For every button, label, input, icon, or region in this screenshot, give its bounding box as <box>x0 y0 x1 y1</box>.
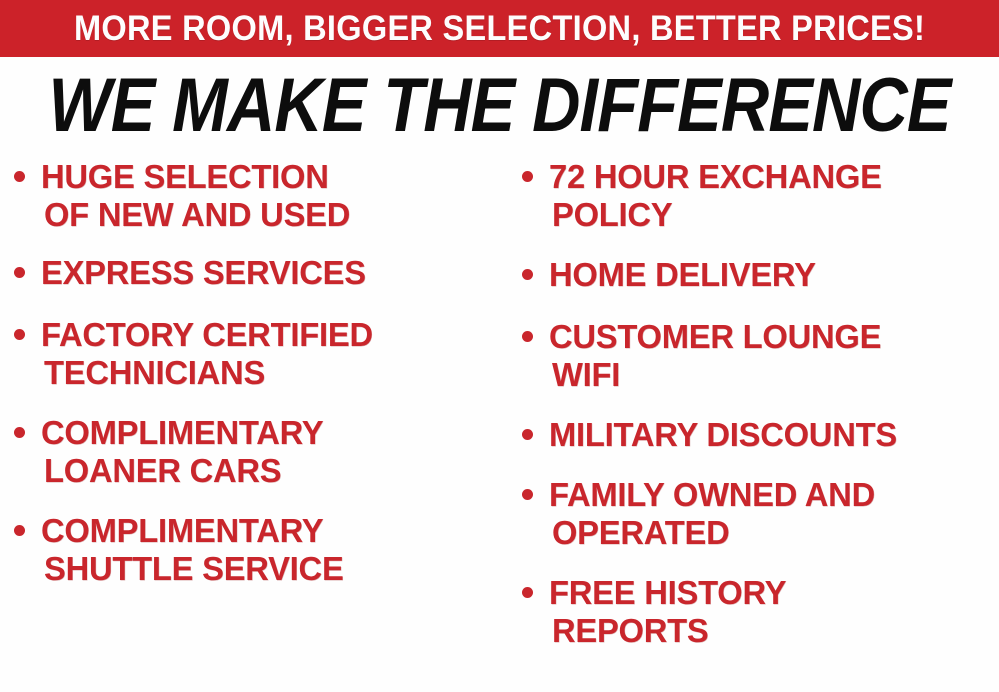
bullet-dot-icon <box>522 171 533 182</box>
top-banner-text: MORE ROOM, BIGGER SELECTION, BETTER PRIC… <box>74 11 925 46</box>
bullet-dot-icon <box>14 329 25 340</box>
list-item: HUGE SELECTIONOF NEW AND USED <box>14 158 501 234</box>
features-column-right: 72 HOUR EXCHANGEPOLICYHOME DELIVERYCUSTO… <box>505 158 999 666</box>
list-item: EXPRESS SERVICES <box>14 254 501 292</box>
list-item-label: HOME DELIVERY <box>549 256 816 294</box>
bullet-dot-icon <box>522 269 533 280</box>
list-item-label: FAMILY OWNED ANDOPERATED <box>549 476 875 552</box>
list-item: MILITARY DISCOUNTS <box>522 416 999 454</box>
features-columns: HUGE SELECTIONOF NEW AND USEDEXPRESS SER… <box>0 158 999 692</box>
list-item-line: COMPLIMENTARY <box>41 414 323 452</box>
features-column-left: HUGE SELECTIONOF NEW AND USEDEXPRESS SER… <box>0 158 505 604</box>
list-item-label: EXPRESS SERVICES <box>41 254 366 292</box>
list-item-label: FREE HISTORYREPORTS <box>549 574 786 650</box>
list-item-line: FAMILY OWNED AND <box>549 476 875 514</box>
list-item-line: FACTORY CERTIFIED <box>41 316 373 354</box>
list-item-line: SHUTTLE SERVICE <box>41 550 344 588</box>
list-item-label: CUSTOMER LOUNGEWIFI <box>549 318 881 394</box>
list-item-line: MILITARY DISCOUNTS <box>549 416 897 454</box>
page-title: WE MAKE THE DIFFERENCE <box>48 67 950 145</box>
list-item-line: REPORTS <box>549 612 786 650</box>
bullet-dot-icon <box>522 429 533 440</box>
list-item-line: OF NEW AND USED <box>41 196 350 234</box>
list-item-line: OPERATED <box>549 514 875 552</box>
bullet-dot-icon <box>14 427 25 438</box>
list-item-label: COMPLIMENTARYSHUTTLE SERVICE <box>41 512 344 588</box>
list-item-line: HOME DELIVERY <box>549 256 816 294</box>
list-item-label: COMPLIMENTARYLOANER CARS <box>41 414 323 490</box>
list-item-line: FREE HISTORY <box>549 574 786 612</box>
list-item-line: TECHNICIANS <box>41 354 373 392</box>
list-item: FACTORY CERTIFIEDTECHNICIANS <box>14 316 501 392</box>
list-item-line: EXPRESS SERVICES <box>41 254 366 292</box>
list-item: FAMILY OWNED ANDOPERATED <box>522 476 999 552</box>
headline-container: WE MAKE THE DIFFERENCE <box>0 62 999 150</box>
list-item: CUSTOMER LOUNGEWIFI <box>522 318 999 394</box>
list-item-label: 72 HOUR EXCHANGEPOLICY <box>549 158 882 234</box>
bullet-dot-icon <box>14 267 25 278</box>
list-item-line: 72 HOUR EXCHANGE <box>549 158 882 196</box>
list-item: COMPLIMENTARYSHUTTLE SERVICE <box>14 512 501 588</box>
list-item-line: POLICY <box>549 196 882 234</box>
list-item-label: FACTORY CERTIFIEDTECHNICIANS <box>41 316 373 392</box>
bullet-dot-icon <box>14 171 25 182</box>
list-item-label: HUGE SELECTIONOF NEW AND USED <box>41 158 350 234</box>
bullet-dot-icon <box>522 587 533 598</box>
bullet-dot-icon <box>522 331 533 342</box>
bullet-dot-icon <box>522 489 533 500</box>
list-item-line: LOANER CARS <box>41 452 323 490</box>
list-item-line: WIFI <box>549 356 881 394</box>
list-item: 72 HOUR EXCHANGEPOLICY <box>522 158 999 234</box>
list-item: FREE HISTORYREPORTS <box>522 574 999 650</box>
list-item-line: COMPLIMENTARY <box>41 512 344 550</box>
bullet-dot-icon <box>14 525 25 536</box>
list-item: COMPLIMENTARYLOANER CARS <box>14 414 501 490</box>
list-item-line: CUSTOMER LOUNGE <box>549 318 881 356</box>
list-item: HOME DELIVERY <box>522 256 999 294</box>
list-item-line: HUGE SELECTION <box>41 158 350 196</box>
list-item-label: MILITARY DISCOUNTS <box>549 416 897 454</box>
top-banner: MORE ROOM, BIGGER SELECTION, BETTER PRIC… <box>0 0 999 57</box>
promo-poster: MORE ROOM, BIGGER SELECTION, BETTER PRIC… <box>0 0 999 692</box>
